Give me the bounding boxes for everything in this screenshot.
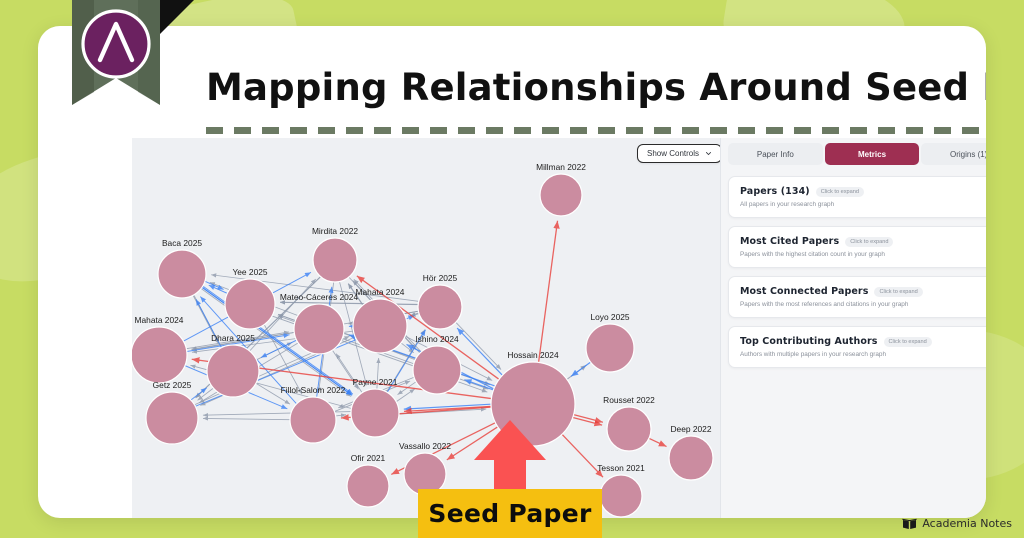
graph-node[interactable] xyxy=(290,397,336,443)
graph-edge xyxy=(456,322,501,369)
app-screenshot: Millman 2022Mirdita 2022Baca 2025Yee 202… xyxy=(132,138,986,518)
metric-card-subtitle: Papers with the highest citation count i… xyxy=(740,251,986,258)
graph-edge xyxy=(396,389,414,402)
metric-card-title: Papers (134) xyxy=(740,186,810,197)
corner-fold xyxy=(160,0,194,34)
graph-edge xyxy=(539,221,558,363)
graph-node-label: Ishino 2024 xyxy=(415,334,459,344)
metric-card-header: Most Cited PapersClick to expand xyxy=(740,236,986,247)
tab-origins-1[interactable]: Origins (1) xyxy=(921,143,986,165)
expand-hint-pill: Click to expand xyxy=(874,287,922,297)
graph-node[interactable] xyxy=(607,407,651,451)
graph-node[interactable] xyxy=(540,174,582,216)
graph-node-label: Yee 2025 xyxy=(232,267,267,277)
graph-node-label: Baca 2025 xyxy=(162,238,202,248)
graph-node-label: Fillol-Salom 2022 xyxy=(281,385,346,395)
graph-node[interactable] xyxy=(313,238,357,282)
chevron-down-icon xyxy=(705,150,712,157)
graph-node[interactable] xyxy=(418,285,462,329)
graph-node[interactable] xyxy=(353,299,407,353)
graph-node[interactable] xyxy=(351,389,399,437)
dashed-divider xyxy=(206,127,986,134)
graph-edge xyxy=(571,362,591,376)
seed-paper-arrow xyxy=(466,418,554,492)
graph-node-label: Tesson 2021 xyxy=(597,463,645,473)
metric-card[interactable]: Most Cited PapersClick to expandPapers w… xyxy=(728,226,986,268)
research-graph-svg: Millman 2022Mirdita 2022Baca 2025Yee 202… xyxy=(132,138,720,518)
metric-card-subtitle: Papers with the most references and cita… xyxy=(740,301,986,308)
show-controls-button[interactable]: Show Controls xyxy=(637,144,722,163)
graph-node-label: Hör 2025 xyxy=(423,273,458,283)
graph-node[interactable] xyxy=(586,324,634,372)
tab-label: Origins (1) xyxy=(950,150,986,159)
graph-node[interactable] xyxy=(347,465,389,507)
metric-card-title: Most Cited Papers xyxy=(740,236,839,247)
graph-node-label: Hossain 2024 xyxy=(507,350,559,360)
metric-card-title: Most Connected Papers xyxy=(740,286,868,297)
graph-node[interactable] xyxy=(669,436,713,480)
graph-node-label: Ofir 2021 xyxy=(351,453,386,463)
page-title: Mapping Relationships Around Seed Papers xyxy=(206,66,986,109)
graph-node-label: Deep 2022 xyxy=(671,424,712,434)
sidebar-tabs: Paper InfoMetricsOrigins (1) xyxy=(720,143,986,165)
watermark-label: Academia Notes xyxy=(922,517,1012,530)
graph-node-label: Loyo 2025 xyxy=(590,312,629,322)
graph-node-label: Millman 2022 xyxy=(536,162,586,172)
expand-hint-pill: Click to expand xyxy=(816,187,864,197)
metric-card[interactable]: Top Contributing AuthorsClick to expandA… xyxy=(728,326,986,368)
open-book-icon xyxy=(902,518,917,530)
tab-label: Metrics xyxy=(858,150,886,159)
graph-edge xyxy=(203,418,290,419)
graph-edge xyxy=(205,281,224,289)
tab-metrics[interactable]: Metrics xyxy=(825,143,920,165)
tab-paper-info[interactable]: Paper Info xyxy=(728,143,823,165)
graph-node[interactable] xyxy=(600,475,642,517)
graph-node[interactable] xyxy=(207,345,259,397)
graph-node[interactable] xyxy=(294,304,344,354)
graph-node-label: Vassallo 2022 xyxy=(399,441,451,451)
seed-paper-banner: Seed Paper xyxy=(418,489,602,538)
show-controls-label: Show Controls xyxy=(647,149,699,158)
graph-node-label: Mateo-Cáceres 2024 xyxy=(280,292,359,302)
graph-node-label: Getz 2025 xyxy=(153,380,192,390)
metric-card-header: Top Contributing AuthorsClick to expand xyxy=(740,336,986,347)
watermark: Academia Notes xyxy=(902,517,1012,530)
metrics-card-list: Papers (134)Click to expandAll papers in… xyxy=(728,176,986,376)
metric-card-title: Top Contributing Authors xyxy=(740,336,878,347)
graph-node-label: Rousset 2022 xyxy=(603,395,655,405)
metric-card[interactable]: Papers (134)Click to expandAll papers in… xyxy=(728,176,986,218)
graph-node-label: Dhara 2025 xyxy=(211,333,255,343)
logo-ribbon xyxy=(72,0,160,105)
tab-label: Paper Info xyxy=(757,150,794,159)
graph-node-label: Mahata 2024 xyxy=(135,315,184,325)
graph-edge xyxy=(649,438,667,446)
graph-node[interactable] xyxy=(413,346,461,394)
metric-card-subtitle: Authors with multiple papers in your res… xyxy=(740,351,986,358)
metric-card-header: Most Connected PapersClick to expand xyxy=(740,286,986,297)
metric-card-header: Papers (134)Click to expand xyxy=(740,186,986,197)
graph-node-label: Mahata 2024 xyxy=(356,287,405,297)
graph-canvas[interactable]: Millman 2022Mirdita 2022Baca 2025Yee 202… xyxy=(132,138,720,518)
graph-node[interactable] xyxy=(146,392,198,444)
graph-nodes: Millman 2022Mirdita 2022Baca 2025Yee 202… xyxy=(132,162,713,517)
graph-edge xyxy=(336,415,346,416)
graph-edge xyxy=(191,388,207,400)
expand-hint-pill: Click to expand xyxy=(845,237,893,247)
graph-node[interactable] xyxy=(225,279,275,329)
expand-hint-pill: Click to expand xyxy=(884,337,932,347)
graph-node-label: Payne 2021 xyxy=(353,377,398,387)
graph-node[interactable] xyxy=(132,327,187,383)
metric-card[interactable]: Most Connected PapersClick to expandPape… xyxy=(728,276,986,318)
graph-edge xyxy=(457,328,502,375)
metric-card-subtitle: All papers in your research graph xyxy=(740,201,986,208)
seed-paper-label: Seed Paper xyxy=(428,499,591,528)
graph-node[interactable] xyxy=(158,250,206,298)
graph-node-label: Mirdita 2022 xyxy=(312,226,358,236)
